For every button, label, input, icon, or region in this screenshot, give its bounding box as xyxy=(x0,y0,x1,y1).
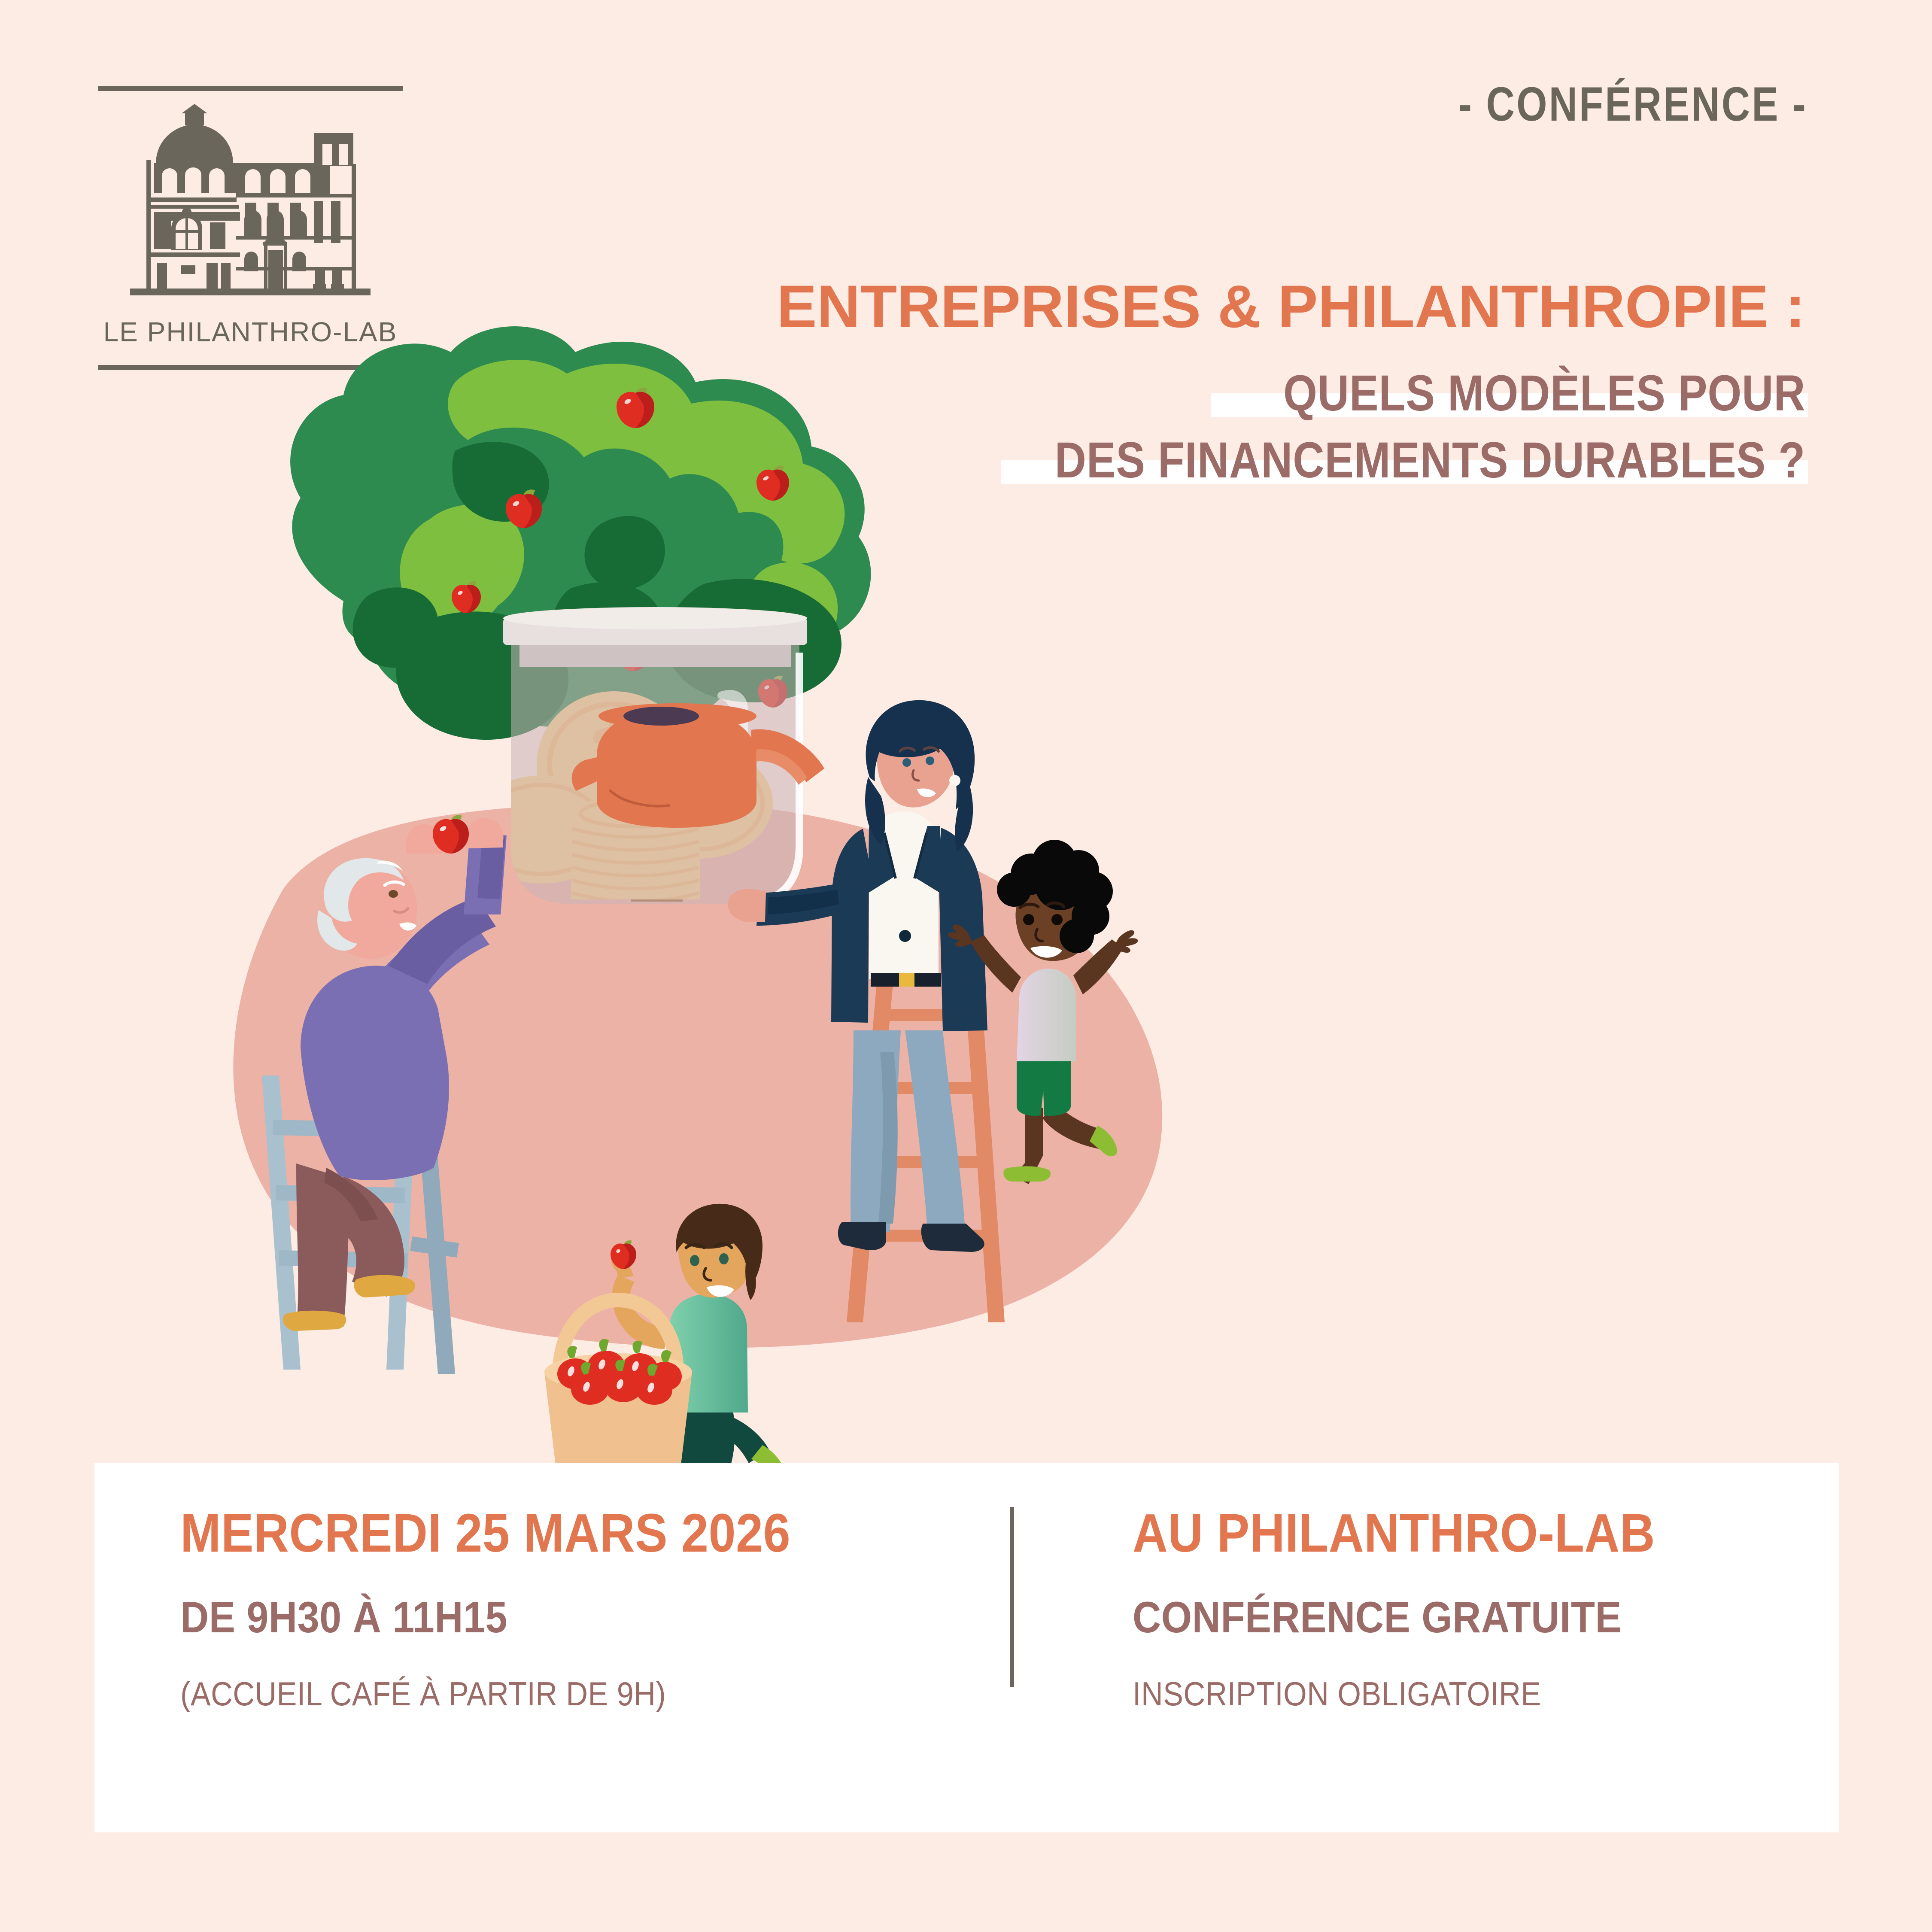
conference-poster: LE PHILANTHRO-LAB - CONFÉRENCE - ENTREPR… xyxy=(0,0,1932,1932)
event-venue-column: AU PHILANTHRO-LAB CONFÉRENCE GRATUITE IN… xyxy=(1010,1463,1839,1832)
illustration xyxy=(0,326,1331,1464)
event-time: DE 9H30 À 11H15 xyxy=(180,1595,927,1639)
conference-kicker: - CONFÉRENCE - xyxy=(1458,76,1807,132)
philanthro-lab-building-logo-icon xyxy=(98,91,403,314)
event-price: CONFÉRENCE GRATUITE xyxy=(1133,1595,1768,1639)
event-welcome-note: (ACCUEIL CAFÉ À PARTIR DE 9H) xyxy=(180,1677,927,1710)
logo-top-rule xyxy=(98,86,403,91)
event-venue: AU PHILANTHRO-LAB xyxy=(1133,1506,1768,1560)
event-date: MERCREDI 25 MARS 2026 xyxy=(180,1506,927,1560)
event-info-card: MERCREDI 25 MARS 2026 DE 9H30 À 11H15 (A… xyxy=(94,1463,1839,1832)
event-registration-note: INSCRIPTION OBLIGATOIRE xyxy=(1133,1677,1768,1710)
event-date-column: MERCREDI 25 MARS 2026 DE 9H30 À 11H15 (A… xyxy=(94,1463,1010,1832)
